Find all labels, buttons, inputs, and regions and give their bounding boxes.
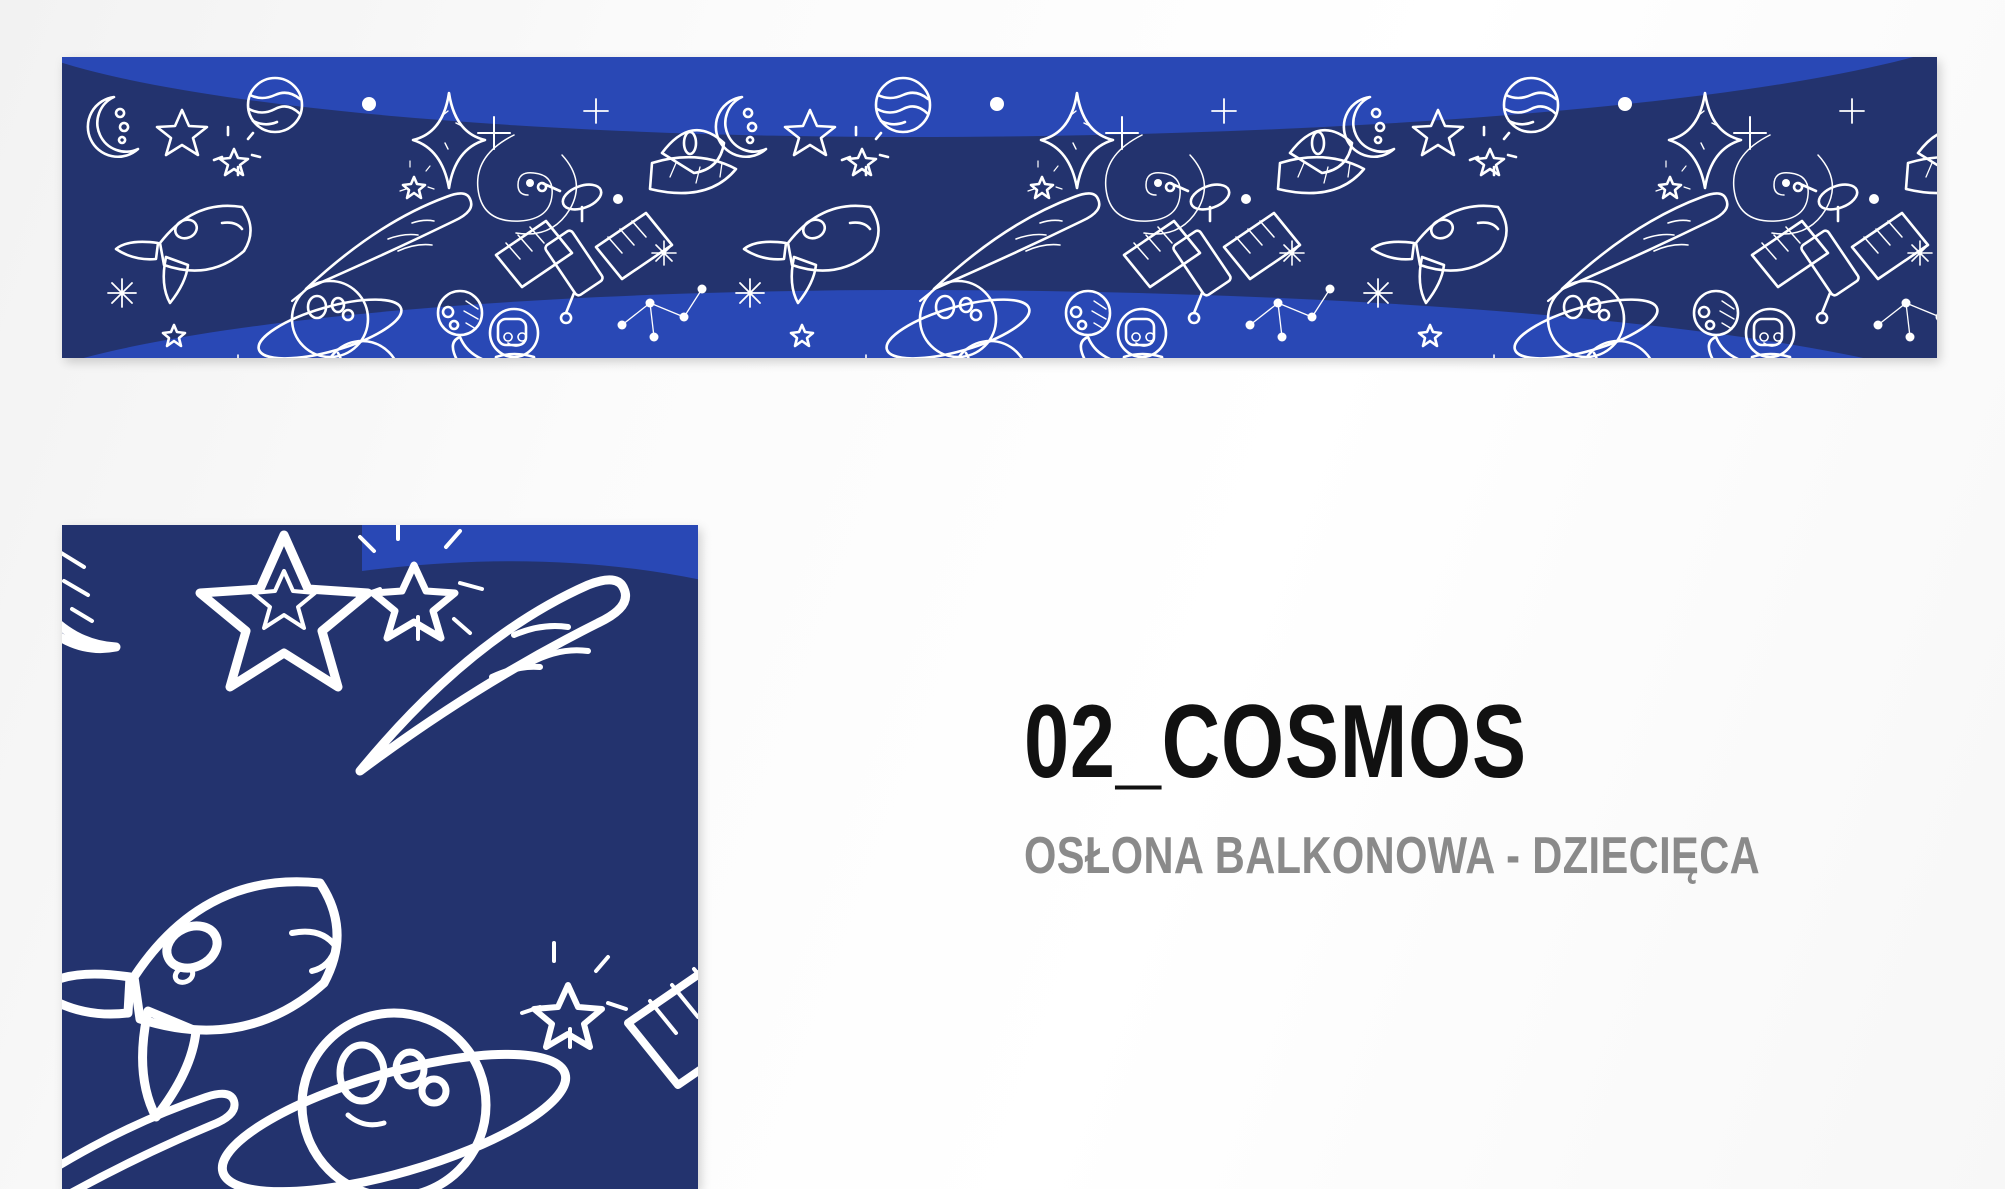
page-title: 02_COSMOS (1024, 690, 1695, 794)
detail-doodle-layer (62, 525, 698, 1189)
banner-doodle-layer (62, 57, 1937, 358)
detail-preview-panel[interactable] (62, 525, 698, 1189)
detail-artwork-surface (62, 525, 698, 1189)
accent-wave-detail (362, 525, 698, 595)
banner-preview-panel[interactable] (62, 57, 1937, 358)
product-text-block: 02_COSMOS OSŁONA BALKONOWA - DZIECIĘCA (1024, 690, 1884, 882)
product-subtitle: OSŁONA BALKONOWA - DZIECIĘCA (1024, 830, 1712, 882)
banner-artwork-surface (62, 57, 1937, 358)
